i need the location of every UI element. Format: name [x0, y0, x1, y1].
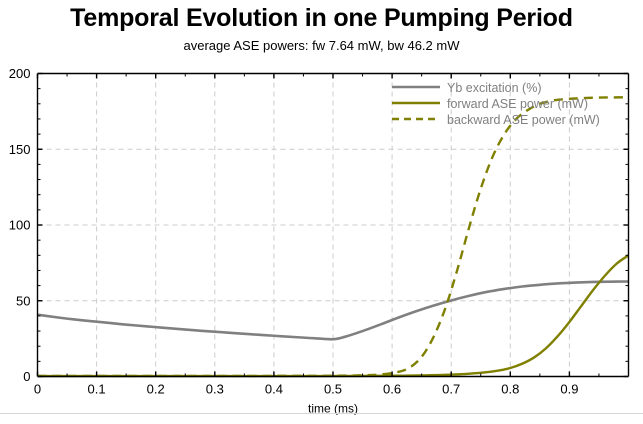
ytick-label: 100	[9, 218, 31, 233]
legend-label-2: backward ASE power (mW)	[447, 113, 600, 127]
chart-figure: Temporal Evolution in one Pumping Period…	[0, 0, 643, 424]
xtick-label: 0.7	[442, 382, 460, 397]
xtick-label: 0.8	[501, 382, 519, 397]
xtick-label: 0.6	[383, 382, 401, 397]
legend-label-0: Yb excitation (%)	[447, 81, 541, 95]
xtick-label: 0.9	[560, 382, 578, 397]
ytick-label: 0	[23, 369, 30, 384]
plot-area: 05010015020000.10.20.30.40.50.60.70.80.9…	[0, 0, 643, 424]
plot-svg: 05010015020000.10.20.30.40.50.60.70.80.9…	[0, 0, 643, 424]
ytick-label: 200	[9, 66, 31, 81]
xtick-label: 0.5	[324, 382, 342, 397]
xtick-label: 0.3	[206, 382, 224, 397]
xtick-label: 0.2	[147, 382, 165, 397]
legend-label-1: forward ASE power (mW)	[447, 97, 588, 111]
xtick-label: 0.4	[265, 382, 283, 397]
xtick-label: 0.1	[88, 382, 106, 397]
bottom-divider	[0, 413, 643, 414]
ytick-label: 150	[9, 142, 31, 157]
ytick-label: 50	[16, 293, 30, 308]
xtick-label: 0	[34, 382, 41, 397]
